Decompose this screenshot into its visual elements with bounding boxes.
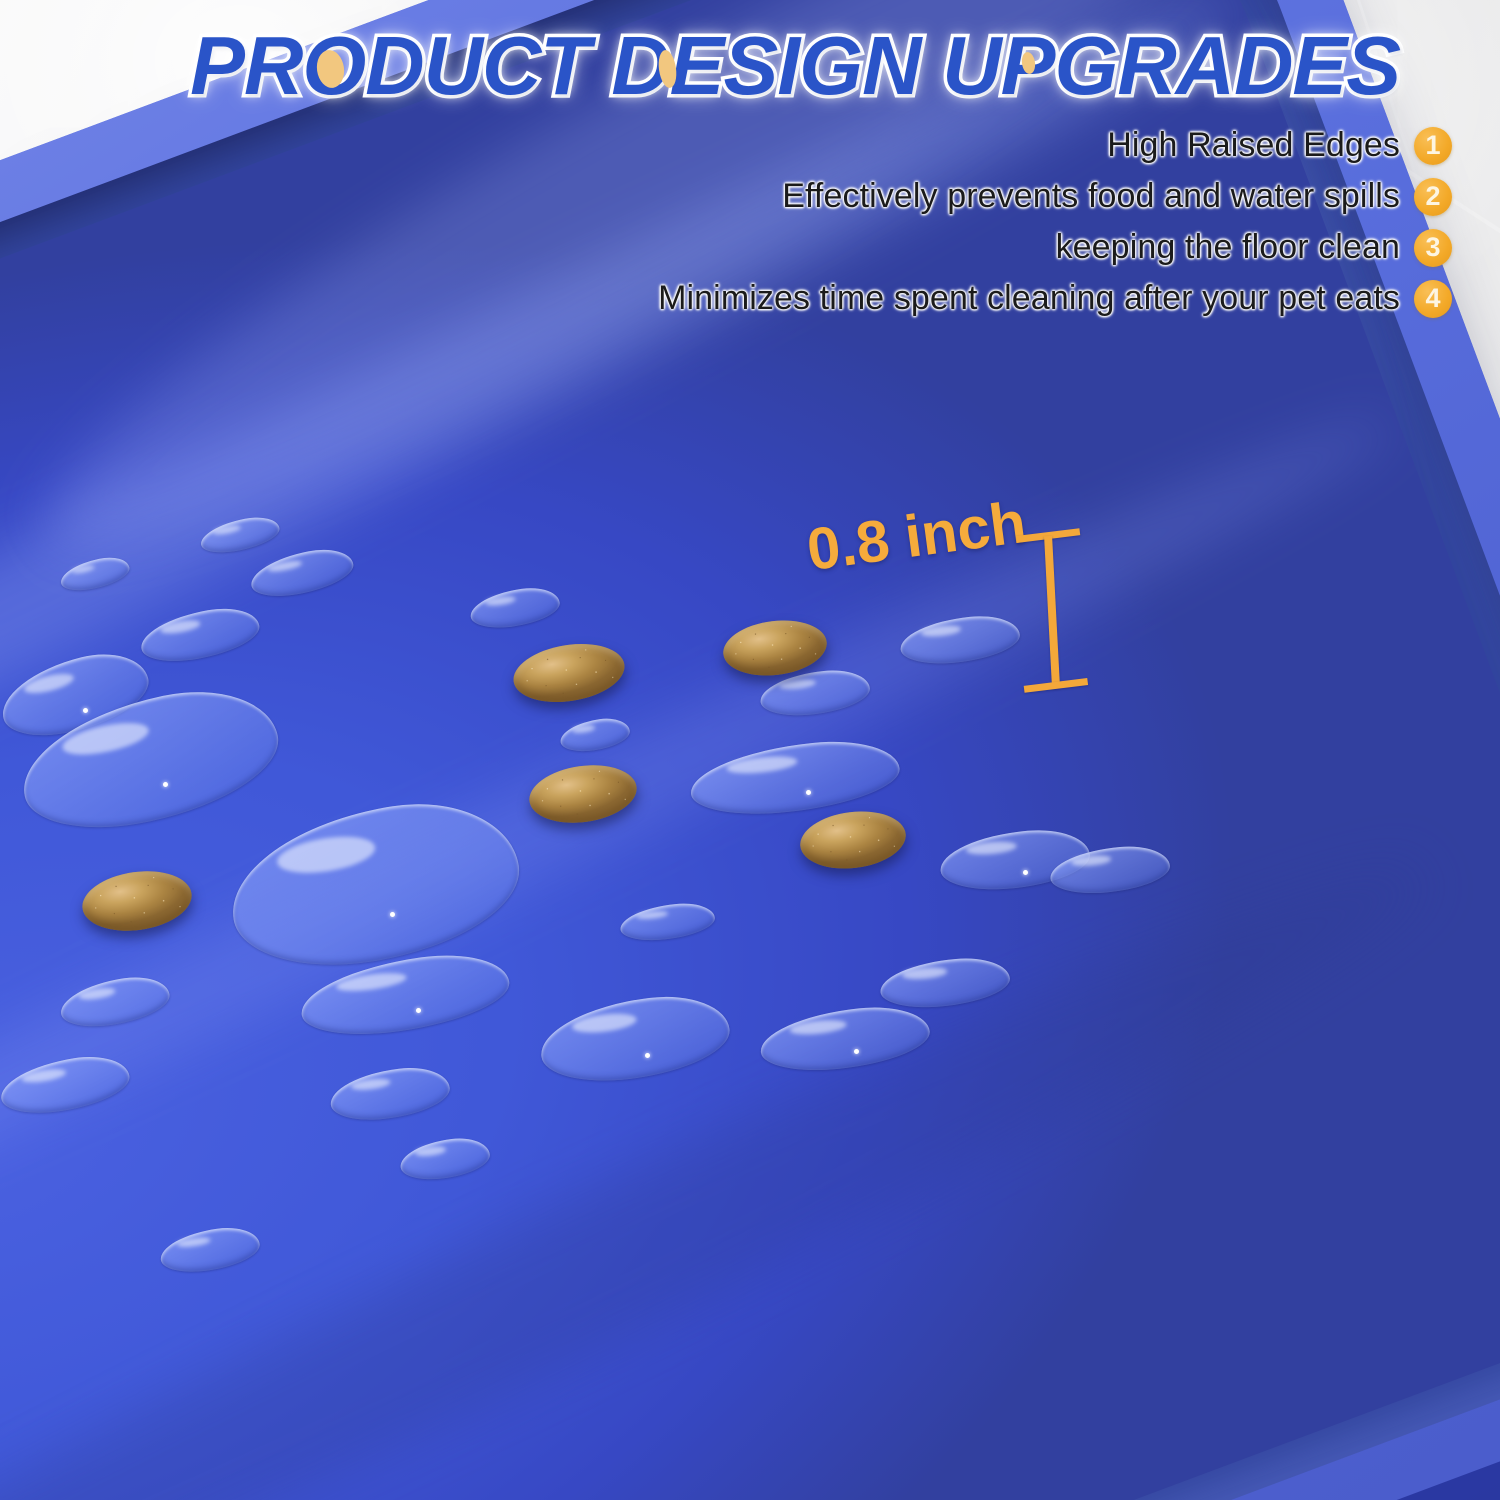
benefit-row: Effectively prevents food and water spil… [452,177,1452,216]
benefit-number-badge: 3 [1414,229,1452,267]
water-droplet [198,513,282,558]
water-droplet [618,900,716,944]
benefit-text: keeping the floor clean [1056,228,1400,267]
droplet-sparkle [416,1008,421,1013]
water-droplet [878,954,1012,1011]
water-droplet [247,543,357,602]
benefit-text: High Raised Edges [1107,126,1400,165]
water-droplet [57,972,173,1033]
droplet-sparkle [163,782,168,787]
water-droplet [220,788,530,982]
benefit-number-badge: 2 [1414,178,1452,216]
water-droplet [137,602,263,668]
water-droplet [558,715,631,754]
benefit-text: Minimizes time spent cleaning after your… [658,279,1400,318]
water-droplet [58,553,132,595]
dimension-shaft [1044,536,1060,688]
benefit-row: Minimizes time spent cleaning after your… [452,279,1452,318]
benefit-text: Effectively prevents food and water spil… [782,177,1400,216]
water-droplet [468,584,562,632]
water-droplet [328,1063,453,1125]
water-droplet [158,1223,263,1277]
benefit-row: High Raised Edges1 [452,126,1452,165]
water-droplet [898,612,1022,668]
water-droplet [398,1135,492,1184]
droplet-sparkle [645,1053,650,1058]
droplet-sparkle [83,708,88,713]
water-droplet [0,1050,133,1120]
droplet-sparkle [1023,870,1028,875]
droplet-sparkle [390,912,395,917]
product-marketing-image: PRODUCT DESIGN UPGRADES High Raised Edge… [0,0,1500,1500]
benefit-number-badge: 1 [1414,127,1452,165]
benefit-number-badge: 4 [1414,280,1452,318]
benefit-list: High Raised Edges1Effectively prevents f… [452,126,1452,318]
water-droplet [757,1001,932,1076]
benefit-row: keeping the floor clean3 [452,228,1452,267]
water-droplet [687,734,903,822]
droplet-sparkle [806,790,811,795]
dimension-line-icon [1016,526,1089,695]
water-droplet [536,989,734,1090]
